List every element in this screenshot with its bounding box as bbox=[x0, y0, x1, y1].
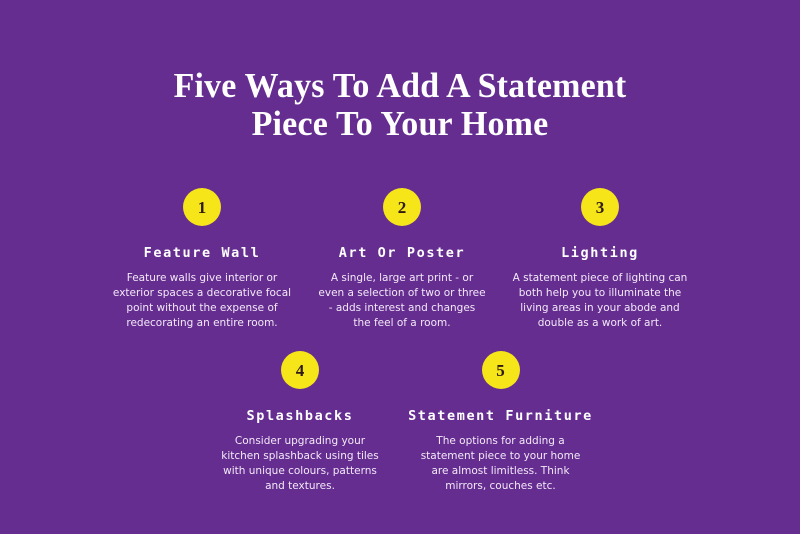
tip-body-line: statement piece to your home bbox=[398, 449, 603, 464]
tip-body-line: A statement piece of lighting can bbox=[500, 271, 700, 286]
tip-body-line: mirrors, couches etc. bbox=[398, 479, 603, 494]
tip-body-line: Feature walls give interior or bbox=[102, 271, 302, 286]
tip-body-line: exterior spaces a decorative focal bbox=[102, 286, 302, 301]
step-badge-1: 1 bbox=[183, 188, 221, 226]
page-title: Five Ways To Add A Statement Piece To Yo… bbox=[0, 68, 800, 141]
step-number-4: 4 bbox=[296, 362, 305, 379]
tip-heading-3: Lighting bbox=[500, 245, 700, 261]
infographic-canvas: Five Ways To Add A Statement Piece To Yo… bbox=[0, 0, 800, 534]
step-badge-5: 5 bbox=[482, 351, 520, 389]
step-number-3: 3 bbox=[596, 199, 605, 216]
tip-body-3: A statement piece of lighting can both h… bbox=[500, 271, 700, 331]
tip-body-2: A single, large art print - or even a se… bbox=[302, 271, 502, 331]
tip-body-line: double as a work of art. bbox=[500, 316, 700, 331]
step-badge-2: 2 bbox=[383, 188, 421, 226]
tip-body-line: are almost limitless. Think bbox=[398, 464, 603, 479]
tip-body-line: and textures. bbox=[200, 479, 400, 494]
tip-body-1: Feature walls give interior or exterior … bbox=[102, 271, 302, 331]
step-number-1: 1 bbox=[198, 199, 207, 216]
tip-body-line: living areas in your abode and bbox=[500, 301, 700, 316]
step-badge-4: 4 bbox=[281, 351, 319, 389]
step-number-5: 5 bbox=[496, 362, 505, 379]
step-badge-3: 3 bbox=[581, 188, 619, 226]
tip-item-1: 1 Feature Wall Feature walls give interi… bbox=[102, 188, 302, 331]
tip-body-line: point without the expense of bbox=[102, 301, 302, 316]
tip-heading-4: Splashbacks bbox=[200, 408, 400, 424]
tip-body-line: kitchen splashback using tiles bbox=[200, 449, 400, 464]
tip-item-4: 4 Splashbacks Consider upgrading your ki… bbox=[200, 351, 400, 494]
tip-body-line: Consider upgrading your bbox=[200, 434, 400, 449]
step-number-2: 2 bbox=[398, 199, 407, 216]
tip-body-line: even a selection of two or three bbox=[302, 286, 502, 301]
tip-body-line: The options for adding a bbox=[398, 434, 603, 449]
tip-heading-2: Art Or Poster bbox=[302, 245, 502, 261]
tip-body-line: the feel of a room. bbox=[302, 316, 502, 331]
tip-body-4: Consider upgrading your kitchen splashba… bbox=[200, 434, 400, 494]
tip-body-line: both help you to illuminate the bbox=[500, 286, 700, 301]
tip-body-line: A single, large art print - or bbox=[302, 271, 502, 286]
tip-item-2: 2 Art Or Poster A single, large art prin… bbox=[302, 188, 502, 331]
tip-item-5: 5 Statement Furniture The options for ad… bbox=[398, 351, 603, 494]
tip-body-line: - adds interest and changes bbox=[302, 301, 502, 316]
tip-heading-1: Feature Wall bbox=[102, 245, 302, 261]
page-title-line-1: Five Ways To Add A Statement bbox=[12, 68, 788, 103]
tip-body-line: redecorating an entire room. bbox=[102, 316, 302, 331]
page-title-line-2: Piece To Your Home bbox=[12, 106, 788, 141]
tip-item-3: 3 Lighting A statement piece of lighting… bbox=[500, 188, 700, 331]
tip-body-5: The options for adding a statement piece… bbox=[398, 434, 603, 494]
tip-body-line: with unique colours, patterns bbox=[200, 464, 400, 479]
tip-heading-5: Statement Furniture bbox=[398, 408, 603, 424]
